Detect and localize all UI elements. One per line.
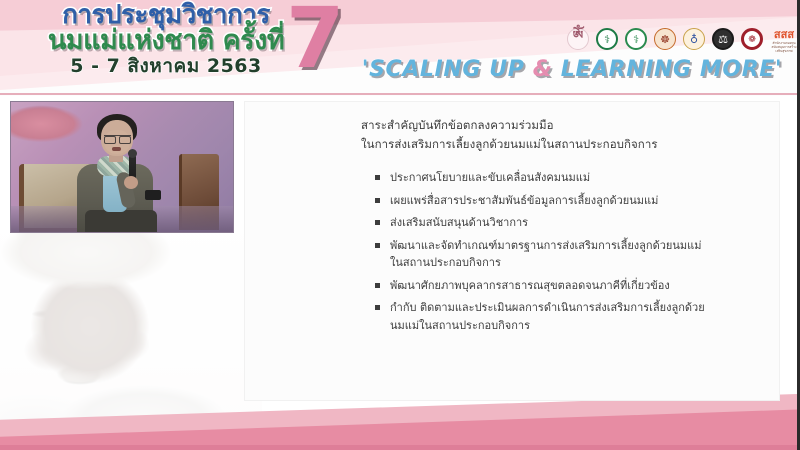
tagline-prefix: 'SCALING UP — [362, 57, 533, 82]
speaker-hand — [124, 176, 138, 189]
list-item-label: เผยแพร่สื่อสารประชาสัมพันธ์ข้อมูลการเลี้… — [390, 192, 705, 210]
speaker-mouth — [112, 147, 121, 151]
list-item: กำกับ ติดตามและประเมินผลการดำเนินการส่งเ… — [375, 299, 705, 334]
conference-title-block: การประชุมวิชาการ นมแม่แห่งชาติ ครั้งที่ … — [16, 2, 316, 76]
thai-government-emblem-logo-icon: ☸ — [653, 26, 677, 56]
conference-edition-number: 7 — [286, 0, 344, 80]
garuda-emblem-logo-icon: ♁ — [682, 26, 706, 56]
conference-tagline: 'SCALING UP & LEARNING MORE' — [352, 57, 792, 82]
square-bullet-icon — [375, 243, 380, 248]
bottom-band-edge — [0, 445, 797, 450]
logo-wordmark-subtitle: สำนักงานกองทุนสนับสนุนการสร้างเสริมสุขภา… — [769, 41, 799, 53]
presentation-clicker — [145, 190, 161, 200]
royal-patronage-emblem-icon: ༀ — [566, 26, 590, 56]
content-heading-line2: ในการส่งเสริมการเลี้ยงลูกด้วยนมแม่ในสถาน… — [361, 135, 761, 154]
logo-glyph: ❁ — [740, 23, 764, 56]
smiling-child-photo — [0, 222, 262, 428]
list-item-label: ประกาศนโยบายและขับเคลื่อนสังคมนมแม่ — [390, 169, 705, 187]
logo-glyph: ༀ — [566, 23, 590, 56]
sponsor-logo-strip: ༀ ⚕ ⚕ ☸ ♁ ⚖ ❁ — [566, 26, 799, 56]
header-divider — [0, 93, 800, 95]
list-item: พัฒนาและจัดทำเกณฑ์มาตรฐานการส่งเสริมการเ… — [375, 237, 705, 272]
list-item-label: กำกับ ติดตามและประเมินผลการดำเนินการส่งเ… — [390, 299, 705, 334]
content-heading-line1: สาระสำคัญบันทึกข้อตกลงความร่วมมือ — [361, 116, 761, 135]
slide-header: การประชุมวิชาการ นมแม่แห่งชาติ ครั้งที่ … — [0, 0, 800, 96]
conference-speaker-video — [10, 101, 234, 233]
ministry-of-public-health-logo-icon: ⚕ — [595, 26, 619, 56]
logo-glyph: ⚕ — [624, 23, 648, 56]
list-item-label: ส่งเสริมสนับสนุนด้านวิชาการ — [390, 214, 705, 232]
list-item: พัฒนาศักยภาพบุคลากรสาธารณสุขตลอดจนภาคีที… — [375, 277, 705, 295]
logo-glyph: ⚕ — [595, 23, 619, 56]
presentation-slide: การประชุมวิชาการ นมแม่แห่งชาติ ครั้งที่ … — [0, 0, 800, 450]
conference-date-range: 5 - 7 สิงหาคม 2563 — [16, 57, 316, 76]
content-bullet-list: ประกาศนโยบายและขับเคลื่อนสังคมนมแม่ เผยแ… — [375, 169, 761, 334]
logo-glyph: ☸ — [653, 23, 677, 56]
list-item-label: พัฒนาศักยภาพบุคลากรสาธารณสุขตลอดจนภาคีที… — [390, 277, 705, 295]
tagline-suffix: LEARNING MORE' — [553, 57, 783, 82]
list-item: ส่งเสริมสนับสนุนด้านวิชาการ — [375, 214, 705, 232]
list-item: เผยแพร่สื่อสารประชาสัมพันธ์ข้อมูลการเลี้… — [375, 192, 705, 210]
square-bullet-icon — [375, 305, 380, 310]
list-item: ประกาศนโยบายและขับเคลื่อนสังคมนมแม่ — [375, 169, 705, 187]
list-item-label: พัฒนาและจัดทำเกณฑ์มาตรฐานการส่งเสริมการเ… — [390, 237, 705, 272]
speaker-eyeglasses — [104, 135, 131, 142]
slide-content-panel: สาระสำคัญบันทึกข้อตกลงความร่วมมือ ในการส… — [244, 101, 780, 401]
square-bullet-icon — [375, 175, 380, 180]
conference-title-line2: นมแม่แห่งชาติ ครั้งที่ — [16, 27, 316, 54]
thaihealth-wordmark-logo-icon: สสส สำนักงานกองทุนสนับสนุนการสร้างเสริมส… — [769, 26, 799, 56]
square-bullet-icon — [375, 220, 380, 225]
red-seal-university-logo-icon: ❁ — [740, 26, 764, 56]
content-heading: สาระสำคัญบันทึกข้อตกลงความร่วมมือ ในการส… — [361, 116, 761, 154]
black-seal-institution-logo-icon: ⚖ — [711, 26, 735, 56]
square-bullet-icon — [375, 198, 380, 203]
department-of-health-logo-icon: ⚕ — [624, 26, 648, 56]
square-bullet-icon — [375, 283, 380, 288]
logo-wordmark: สสส — [769, 29, 799, 40]
speaker-lap — [85, 210, 157, 233]
tagline-ampersand: & — [533, 57, 553, 82]
logo-glyph: ⚖ — [711, 23, 735, 56]
logo-glyph: ♁ — [682, 23, 706, 56]
